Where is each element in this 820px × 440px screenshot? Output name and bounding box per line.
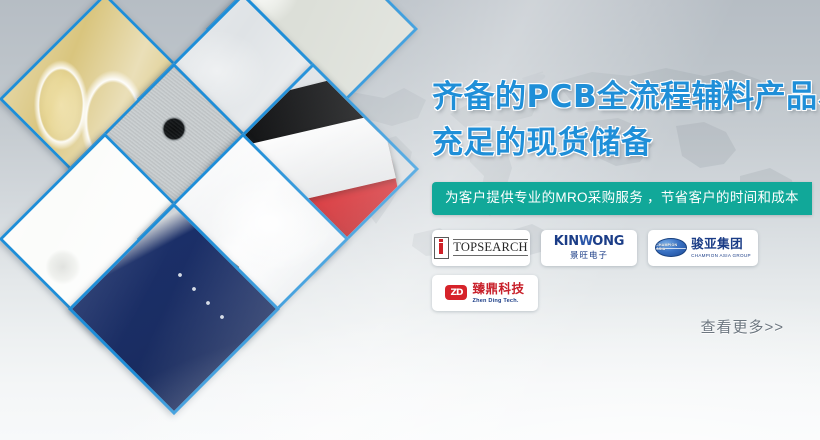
zhen-ding-label-en: Zhen Ding Tech. — [472, 299, 524, 305]
more-link-area: 查看更多>> — [432, 312, 808, 352]
zhen-ding-mark-icon: ZD — [445, 285, 467, 300]
banner-copy: 齐备的PCB全流程辅料产品、 充足的现货储备 为客户提供专业的MRO采购服务 ，… — [432, 74, 808, 320]
logo-card-zhen-ding[interactable]: ZD 臻鼎科技 Zhen Ding Tech. — [432, 275, 538, 311]
partner-logos: TOPSEARCH KINWONG 景旺电子 CHAMPION ASIA 骏亚集… — [432, 230, 808, 311]
view-more-link[interactable]: 查看更多>> — [700, 316, 784, 337]
kinwong-label-cn: 景旺电子 — [554, 251, 625, 260]
kinwong-part-3: ONG — [592, 234, 624, 249]
kinwong-part-1: KIN — [554, 234, 579, 249]
champion-asia-label-cn: 骏亚集团 — [691, 237, 743, 251]
champion-asia-label-en: CHAMPION ASIA GROUP — [691, 254, 751, 259]
kinwong-part-2: W — [579, 234, 592, 249]
partner-logos-row-2: ZD 臻鼎科技 Zhen Ding Tech. — [432, 275, 808, 311]
logo-card-kinwong[interactable]: KINWONG 景旺电子 — [541, 230, 637, 266]
logo-card-champion-asia[interactable]: CHAMPION ASIA 骏亚集团 CHAMPION ASIA GROUP — [648, 230, 758, 266]
topsearch-label: TOPSEARCH — [453, 239, 528, 256]
promo-banner: JIE 齐备的PCB全流程辅料产品、 充足的现货储备 为客户提供专业的MRO采购… — [0, 0, 820, 440]
subtitle-bar: 为客户提供专业的MRO采购服务 ，节省客户的时间和成本 — [432, 182, 812, 215]
topsearch-mark-icon — [434, 237, 449, 259]
product-image-collage: JIE — [0, 0, 450, 440]
logo-card-topsearch[interactable]: TOPSEARCH — [432, 230, 530, 266]
headline-line-1: 齐备的PCB全流程辅料产品、 — [432, 74, 808, 120]
champion-asia-globe-icon: CHAMPION ASIA — [655, 238, 687, 257]
partner-logos-row-1: TOPSEARCH KINWONG 景旺电子 CHAMPION ASIA 骏亚集… — [432, 230, 808, 266]
zhen-ding-label-cn: 臻鼎科技 — [472, 282, 524, 296]
champion-asia-globe-text: CHAMPION ASIA — [656, 244, 686, 251]
headline-line-2: 充足的现货储备 — [432, 120, 808, 166]
kinwong-label-en: KINWONG — [554, 235, 625, 248]
